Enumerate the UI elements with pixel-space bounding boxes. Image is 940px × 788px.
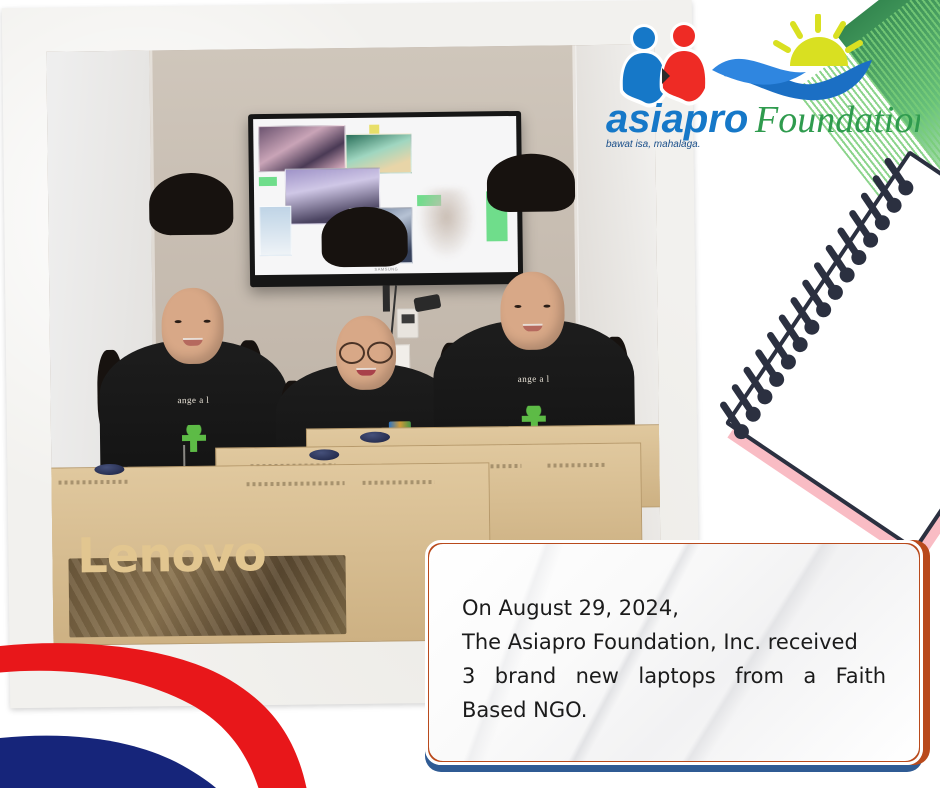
face — [161, 288, 224, 365]
caption-line-3: 3 brand new laptops from a Faith — [462, 659, 886, 693]
caption-text: On August 29, 2024, The Asiapro Foundati… — [462, 591, 886, 727]
caption-line-2: The Asiapro Foundation, Inc. received — [462, 625, 886, 659]
brand-name: asiapro — [606, 97, 748, 141]
asiapro-foundation-logo: asiapro bawat isa, mahalaga. Foundation — [600, 14, 920, 154]
caption-inner: On August 29, 2024, The Asiapro Foundati… — [432, 547, 916, 758]
lenovo-wordmark: Lenovo — [77, 526, 266, 584]
shirt-text-top: ange a l — [518, 373, 550, 383]
red-blue-ribbon — [0, 638, 310, 788]
ribbon-blue — [0, 736, 242, 788]
brand-tagline: bawat isa, mahalaga. — [606, 139, 701, 150]
poster-canvas: SAMSUNG ange a l ge the — [0, 0, 940, 788]
face — [336, 316, 397, 391]
two-people-heart-icon — [620, 22, 708, 107]
collage-photo-graduation-group — [258, 125, 346, 173]
sunrise-wave-icon — [712, 16, 872, 100]
shirt-text-top: ange a l — [177, 395, 209, 405]
hair-top — [149, 173, 234, 236]
brand-suffix: Foundation — [754, 99, 920, 141]
hair-top — [321, 206, 408, 267]
caption-line-4: Based NGO. — [462, 693, 886, 727]
green-person-icon — [181, 425, 207, 459]
face — [500, 271, 565, 350]
hair-top — [487, 154, 576, 213]
caption-line-1: On August 29, 2024, — [462, 591, 886, 625]
eyeglasses — [339, 342, 393, 361]
caption-card: On August 29, 2024, The Asiapro Foundati… — [425, 540, 923, 765]
pink-spiral-notebook — [727, 164, 940, 566]
